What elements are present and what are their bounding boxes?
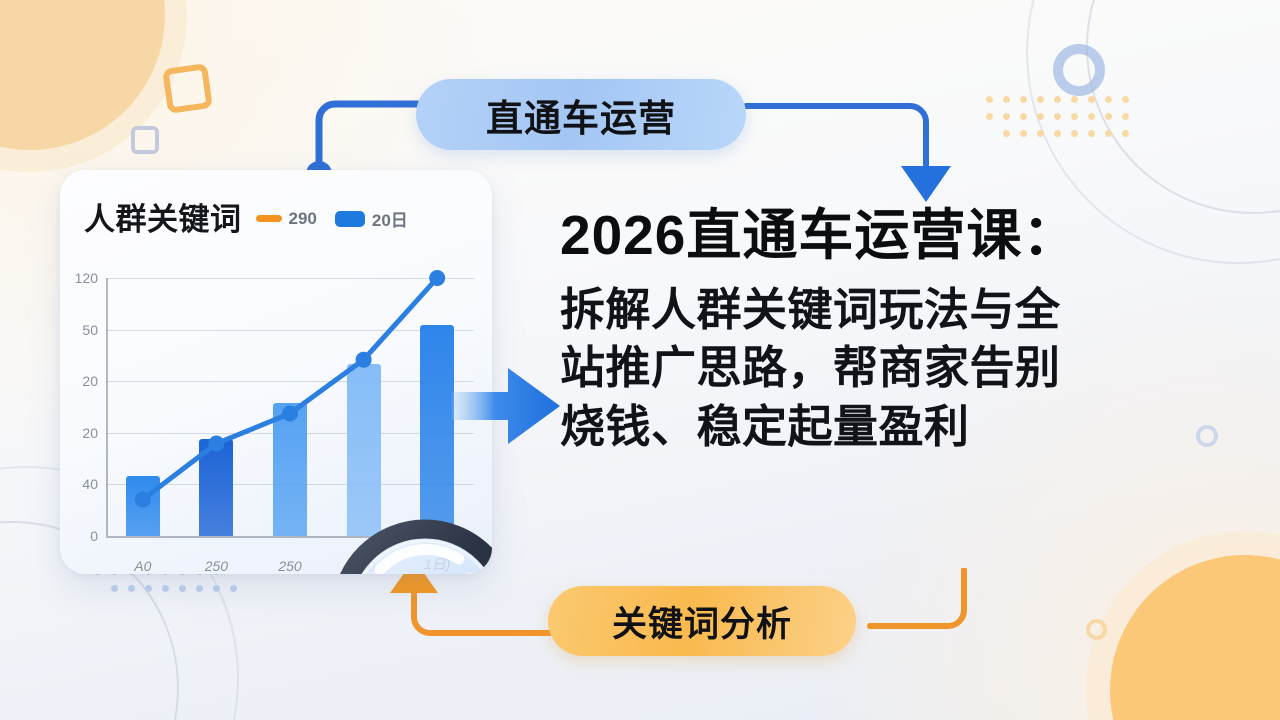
magnifying-glass-icon (328, 515, 492, 574)
flow-arrow-right-icon (452, 358, 562, 454)
chart-line-point (282, 405, 298, 421)
subline: 烧钱、稳定起量盈利 (560, 398, 1250, 457)
chart-line-point (208, 436, 224, 452)
decor-ring-small-orange (1086, 619, 1107, 640)
connector-top-right (742, 96, 962, 208)
legend-swatch-bar-icon (335, 211, 365, 227)
poster-headline: 2026直通车运营课： (560, 205, 1250, 267)
chart-line-point (356, 352, 372, 368)
decor-arc-top-right-inner (1086, 0, 1280, 214)
legend-swatch-line-icon (256, 215, 282, 222)
poster-text-block: 2026直通车运营课： 拆解人群关键词玩法与全 站推广思路，帮商家告别 烧钱、稳… (560, 205, 1250, 456)
poster-subheadline: 拆解人群关键词玩法与全 站推广思路，帮商家告别 烧钱、稳定起量盈利 (560, 281, 1250, 457)
chart-line-point (429, 270, 445, 286)
decor-circle-bottom-right (1110, 555, 1280, 720)
badge-bottom-topic[interactable]: 关键词分析 (548, 586, 856, 656)
legend-item-line: 290 (256, 209, 317, 229)
legend-item-bar: 20日 (335, 206, 408, 231)
decor-square-ring-orange (162, 63, 213, 114)
legend-label-bar: 20日 (372, 206, 408, 231)
decor-ring-blue (1053, 44, 1105, 96)
chart-title: 人群关键词 (84, 194, 242, 239)
decor-circle-top-left (0, 0, 165, 150)
chart-line-point (135, 491, 151, 507)
connector-bottom-right (866, 568, 1006, 660)
subline: 站推广思路，帮商家告别 (560, 339, 1250, 398)
poster-canvas: 人群关键词 290 20日 120502020400A02502502601日) (0, 0, 1280, 720)
badge-bottom-label: 关键词分析 (612, 596, 792, 647)
decor-dot-grid-orange (986, 96, 1129, 137)
badge-top-label: 直通车运营 (486, 88, 676, 142)
badge-top-topic[interactable]: 直通车运营 (416, 79, 746, 150)
legend-label-line: 290 (289, 209, 317, 229)
subline: 拆解人群关键词玩法与全 (560, 281, 1250, 340)
decor-square-ring-gray (131, 126, 159, 154)
chart-card: 人群关键词 290 20日 120502020400A02502502601日) (60, 170, 492, 574)
chart-card-header: 人群关键词 290 20日 (60, 170, 492, 239)
chart-legend: 290 20日 (256, 206, 408, 231)
